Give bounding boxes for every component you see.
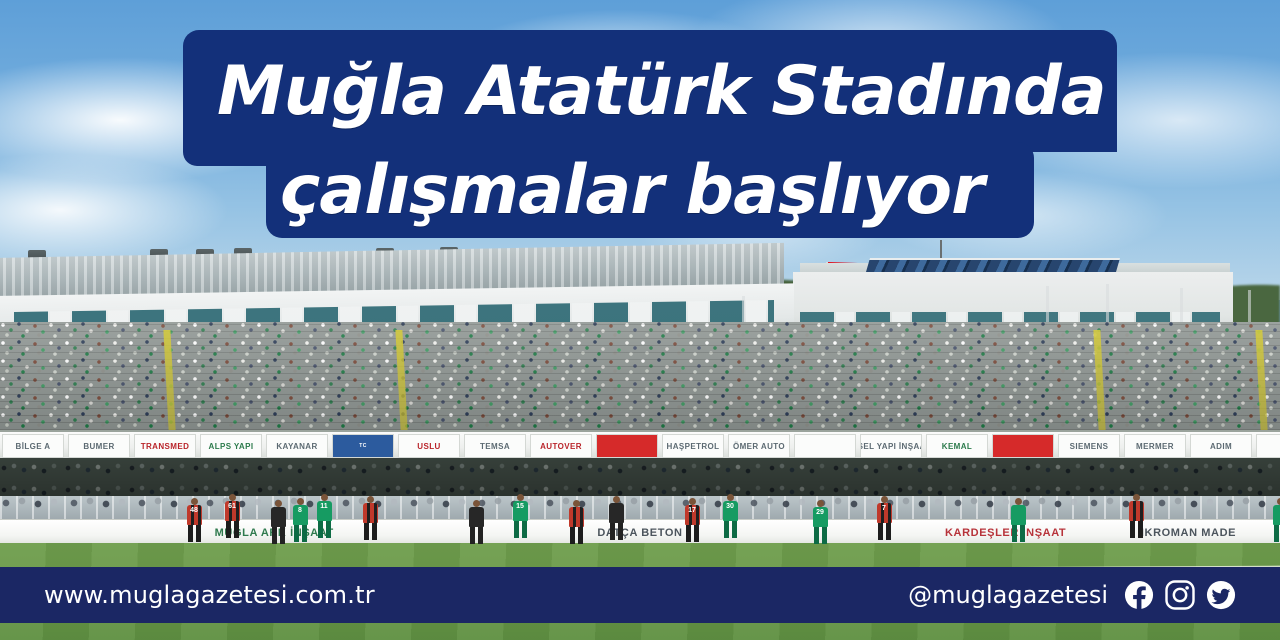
player: 61 <box>224 494 240 538</box>
ad-board <box>794 434 856 458</box>
twitter-icon[interactable] <box>1206 580 1236 610</box>
pitchside-ad-board <box>3 523 180 543</box>
player <box>608 496 624 540</box>
player: 30 <box>722 494 738 538</box>
ad-board: MERMER <box>1124 434 1186 458</box>
website-url[interactable]: www.muglagazetesi.com.tr <box>44 581 375 609</box>
ad-board: HAŞPETROL <box>662 434 724 458</box>
ad-board: KEMAL <box>926 434 988 458</box>
player <box>362 496 378 540</box>
social-links: @muglagazetesi <box>908 580 1236 610</box>
ad-board: ALPS YAPI <box>200 434 262 458</box>
ad-board: USLU <box>398 434 460 458</box>
player <box>468 500 484 544</box>
ad-board: ADIM <box>1190 434 1252 458</box>
player <box>270 500 286 544</box>
player: 29 <box>812 500 828 544</box>
ad-board: BİLGE A <box>2 434 64 458</box>
pitchside-ad-board: KARDEŞLER İNŞAAT <box>917 523 1094 543</box>
player: 7 <box>876 496 892 540</box>
headline-line-2: çalışmalar başlıyor <box>266 142 1034 238</box>
ad-board: SIEMENS <box>1058 434 1120 458</box>
player: 17 <box>684 498 700 542</box>
upper-ad-board-row: BİLGE ABUMERTRANSMEDALPS YAPIKAYANARTCUS… <box>0 430 1280 460</box>
ad-board <box>1256 434 1280 458</box>
player <box>1272 498 1280 542</box>
social-handle: @muglagazetesi <box>908 581 1108 609</box>
player <box>1128 494 1144 538</box>
player <box>1010 498 1026 542</box>
headline-line-1: Muğla Atatürk Stadında <box>183 30 1117 152</box>
ad-board: TRANSMED <box>134 434 196 458</box>
instagram-icon[interactable] <box>1165 580 1195 610</box>
ad-board: AUTOVER <box>530 434 592 458</box>
ad-board: ASEL YAPI İNŞAAT <box>860 434 922 458</box>
ad-board <box>596 434 658 458</box>
upper-stand-crowd <box>0 322 1280 430</box>
ad-board: TEMSA <box>464 434 526 458</box>
pitchside-ad-board: IKROMAN MADE <box>1100 523 1277 543</box>
ad-board: ÖMER AUTO <box>728 434 790 458</box>
ad-board: BUMER <box>68 434 130 458</box>
facebook-icon[interactable] <box>1124 580 1154 610</box>
footer-bar: www.muglagazetesi.com.tr @muglagazetesi <box>0 567 1280 623</box>
player: 15 <box>512 494 528 538</box>
player <box>568 500 584 544</box>
news-banner-image: BİLGE ABUMERTRANSMEDALPS YAPIKAYANARTCUS… <box>0 0 1280 640</box>
player: 48 <box>186 498 202 542</box>
ad-board <box>992 434 1054 458</box>
ad-board: KAYANAR <box>266 434 328 458</box>
player: 11 <box>316 494 332 538</box>
ad-board: TC <box>332 434 394 458</box>
player: 8 <box>292 498 308 542</box>
